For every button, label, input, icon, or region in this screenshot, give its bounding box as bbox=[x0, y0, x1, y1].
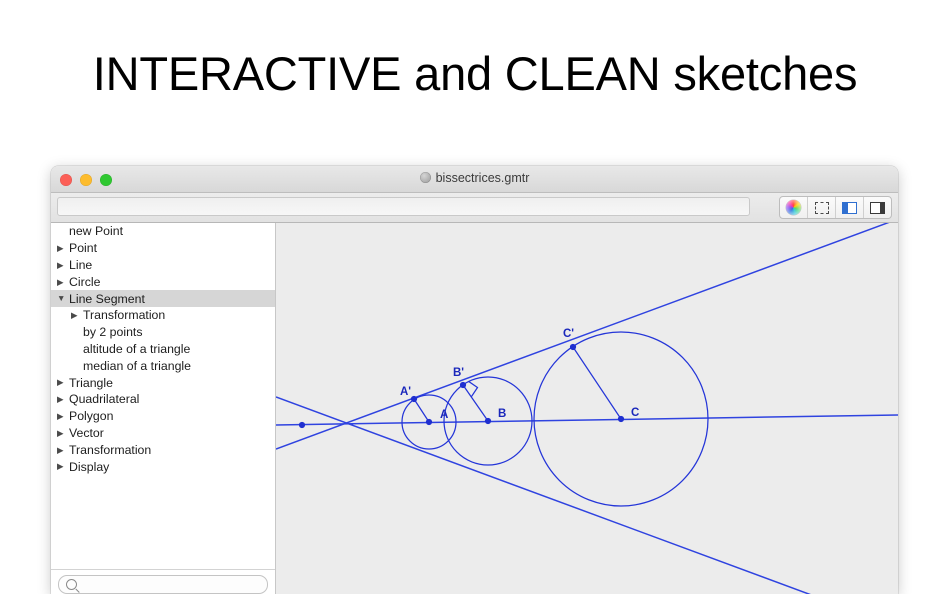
tree-item-vector[interactable]: ▶Vector bbox=[51, 425, 275, 442]
tree-item-line[interactable]: ▶Line bbox=[51, 257, 275, 274]
tree-item-label: Point bbox=[69, 241, 97, 255]
tree-item-label: Transformation bbox=[83, 308, 165, 322]
tree-item-altitude-of-a-triangle[interactable]: altitude of a triangle bbox=[51, 341, 275, 358]
app-window: bissectrices.gmtr new Point▶Point▶Line▶C… bbox=[51, 166, 898, 594]
chevron-right-icon[interactable]: ▶ bbox=[57, 244, 69, 253]
tree-item-label: by 2 points bbox=[83, 325, 142, 339]
point-C-prime[interactable] bbox=[570, 344, 576, 350]
sidebar-toggle-icon bbox=[842, 202, 857, 214]
tree-item-label: Polygon bbox=[69, 409, 113, 423]
axis-line bbox=[276, 415, 898, 425]
search-field[interactable] bbox=[58, 575, 268, 594]
sidebar-toggle-button[interactable] bbox=[836, 197, 864, 218]
tree-item-label: Circle bbox=[69, 275, 100, 289]
tree-item-label: new Point bbox=[69, 224, 123, 238]
point-B-prime[interactable] bbox=[460, 382, 466, 388]
chevron-right-icon[interactable]: ▶ bbox=[57, 395, 69, 404]
window-toolbar bbox=[51, 193, 898, 223]
inspector-toggle-button[interactable] bbox=[864, 197, 891, 218]
select-button[interactable] bbox=[808, 197, 836, 218]
tree-item-label: Quadrilateral bbox=[69, 392, 139, 406]
window-title: bissectrices.gmtr bbox=[436, 171, 530, 185]
radius-A bbox=[414, 399, 429, 422]
point-B[interactable] bbox=[485, 418, 491, 424]
chevron-right-icon[interactable]: ▶ bbox=[57, 412, 69, 421]
label-A: A bbox=[440, 409, 448, 421]
tree-item-label: Triangle bbox=[69, 376, 113, 390]
inspector-toggle-icon bbox=[870, 202, 885, 214]
tree-item-point[interactable]: ▶Point bbox=[51, 240, 275, 257]
label-C: C bbox=[631, 407, 639, 419]
tree-item-line-segment[interactable]: ▼Line Segment bbox=[51, 290, 275, 307]
tree-item-label: Line Segment bbox=[69, 292, 145, 306]
sketch-canvas[interactable]: A' A B' B C' C bbox=[276, 223, 898, 594]
geometry-drawing: A' A B' B C' C bbox=[276, 223, 898, 594]
tree-item-label: Display bbox=[69, 460, 109, 474]
point-A-prime[interactable] bbox=[411, 396, 417, 402]
color-wheel-icon bbox=[786, 200, 801, 215]
tree-item-triangle[interactable]: ▶Triangle bbox=[51, 374, 275, 391]
tree-item-new-point[interactable]: new Point bbox=[51, 223, 275, 240]
window-titlebar: bissectrices.gmtr bbox=[51, 166, 898, 193]
toolbar-button-group bbox=[779, 196, 892, 219]
chevron-right-icon[interactable]: ▶ bbox=[57, 446, 69, 455]
tree-item-quadrilateral[interactable]: ▶Quadrilateral bbox=[51, 391, 275, 408]
chevron-right-icon[interactable]: ▶ bbox=[57, 429, 69, 438]
tree-item-label: Vector bbox=[69, 426, 104, 440]
point-apex[interactable] bbox=[299, 422, 305, 428]
tree-item-label: Line bbox=[69, 258, 92, 272]
tree-item-transformation[interactable]: ▶Transformation bbox=[51, 441, 275, 458]
label-B-prime: B' bbox=[453, 367, 464, 379]
tree-item-label: median of a triangle bbox=[83, 359, 191, 373]
tree-item-display[interactable]: ▶Display bbox=[51, 458, 275, 475]
chevron-right-icon[interactable]: ▶ bbox=[57, 278, 69, 287]
tree-item-circle[interactable]: ▶Circle bbox=[51, 273, 275, 290]
label-A-prime: A' bbox=[400, 386, 411, 398]
lower-tangent-line bbox=[276, 397, 898, 594]
page-title: INTERACTIVE and CLEAN sketches bbox=[0, 46, 950, 101]
document-proxy-icon[interactable] bbox=[420, 172, 431, 183]
tree-item-label: altitude of a triangle bbox=[83, 342, 190, 356]
label-C-prime: C' bbox=[563, 328, 574, 340]
window-body: new Point▶Point▶Line▶Circle▼Line Segment… bbox=[51, 223, 898, 594]
point-C[interactable] bbox=[618, 416, 624, 422]
tree-item-polygon[interactable]: ▶Polygon bbox=[51, 408, 275, 425]
toolbar-text-field[interactable] bbox=[57, 197, 750, 216]
window-title-group: bissectrices.gmtr bbox=[51, 171, 898, 185]
radius-C bbox=[573, 347, 621, 419]
colors-button[interactable] bbox=[780, 197, 808, 218]
tree-item-transformation[interactable]: ▶Transformation bbox=[51, 307, 275, 324]
selection-marquee-icon bbox=[815, 202, 829, 214]
chevron-right-icon[interactable]: ▶ bbox=[71, 311, 83, 320]
chevron-right-icon[interactable]: ▶ bbox=[57, 378, 69, 387]
sidebar-search-container bbox=[51, 569, 275, 594]
sidebar: new Point▶Point▶Line▶Circle▼Line Segment… bbox=[51, 223, 276, 594]
search-icon bbox=[66, 579, 77, 590]
label-B: B bbox=[498, 408, 506, 420]
tree-item-by-2-points[interactable]: by 2 points bbox=[51, 324, 275, 341]
tree-item-label: Transformation bbox=[69, 443, 151, 457]
tree-item-median-of-a-triangle[interactable]: median of a triangle bbox=[51, 357, 275, 374]
construction-tree[interactable]: new Point▶Point▶Line▶Circle▼Line Segment… bbox=[51, 223, 275, 569]
chevron-right-icon[interactable]: ▶ bbox=[57, 261, 69, 270]
point-A[interactable] bbox=[426, 419, 432, 425]
chevron-right-icon[interactable]: ▶ bbox=[57, 462, 69, 471]
upper-tangent-line bbox=[276, 223, 898, 449]
chevron-down-icon[interactable]: ▼ bbox=[57, 294, 69, 303]
